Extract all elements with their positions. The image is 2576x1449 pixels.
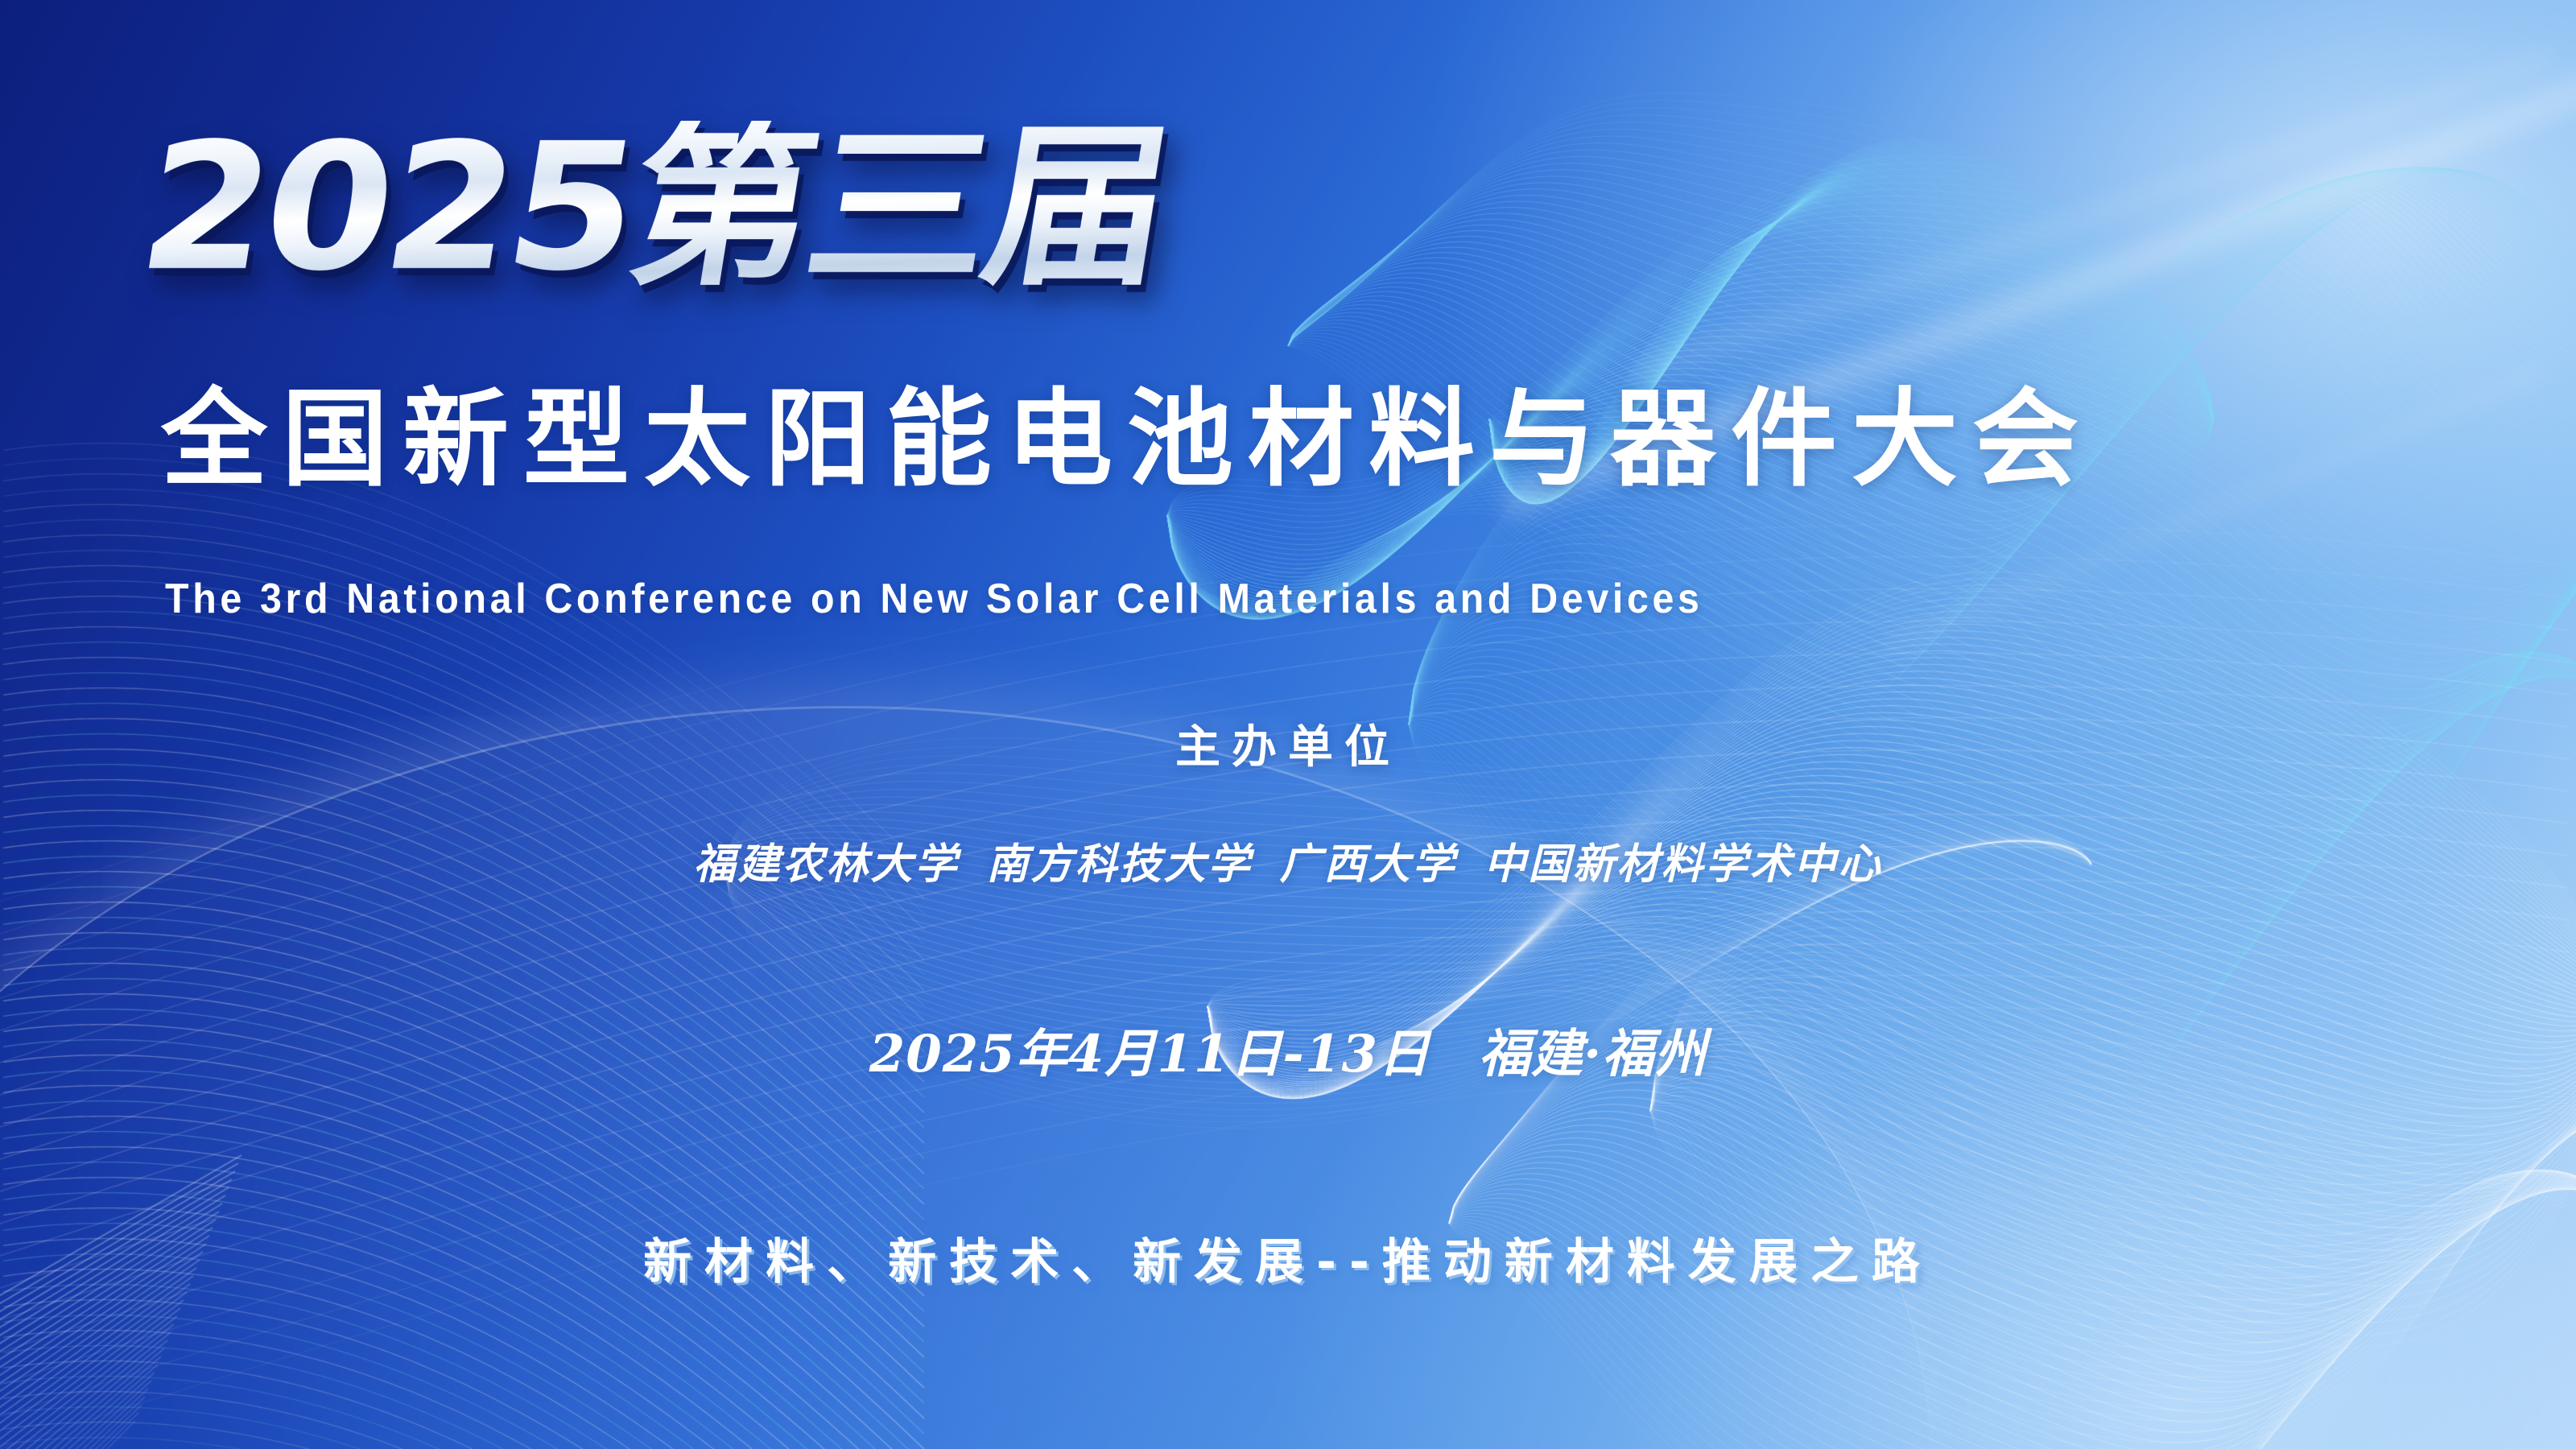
headline-year-edition: 2025第三届: [130, 121, 1178, 296]
conference-banner: 2025第三届 全国新型太阳能电池材料与器件大会 The 3rd Nationa…: [0, 0, 2576, 1449]
conference-date: 2025年4月11日-13日: [869, 1024, 1430, 1084]
conference-slogan: 新材料、新技术、新发展--推动新材料发展之路: [0, 1238, 2576, 1286]
conference-location: 福建·福州: [1479, 1024, 1707, 1084]
organizer-item: 广西大学: [1280, 840, 1457, 889]
organizers-heading: 主办单位: [0, 724, 2576, 770]
conference-title-chinese: 全国新型太阳能电池材料与器件大会: [161, 386, 2093, 493]
organizer-item: 南方科技大学: [986, 840, 1252, 889]
organizer-item: 中国新材料学术中心: [1484, 840, 1883, 889]
date-location-line: 2025年4月11日-13日福建·福州: [0, 1029, 2576, 1080]
organizer-item: 福建农林大学: [693, 840, 959, 889]
organizers-list: 福建农林大学南方科技大学广西大学中国新材料学术中心: [0, 844, 2576, 885]
banner-content: 2025第三届 全国新型太阳能电池材料与器件大会 The 3rd Nationa…: [0, 0, 2576, 1449]
conference-title-english: The 3rd National Conference on New Solar…: [165, 578, 1703, 620]
